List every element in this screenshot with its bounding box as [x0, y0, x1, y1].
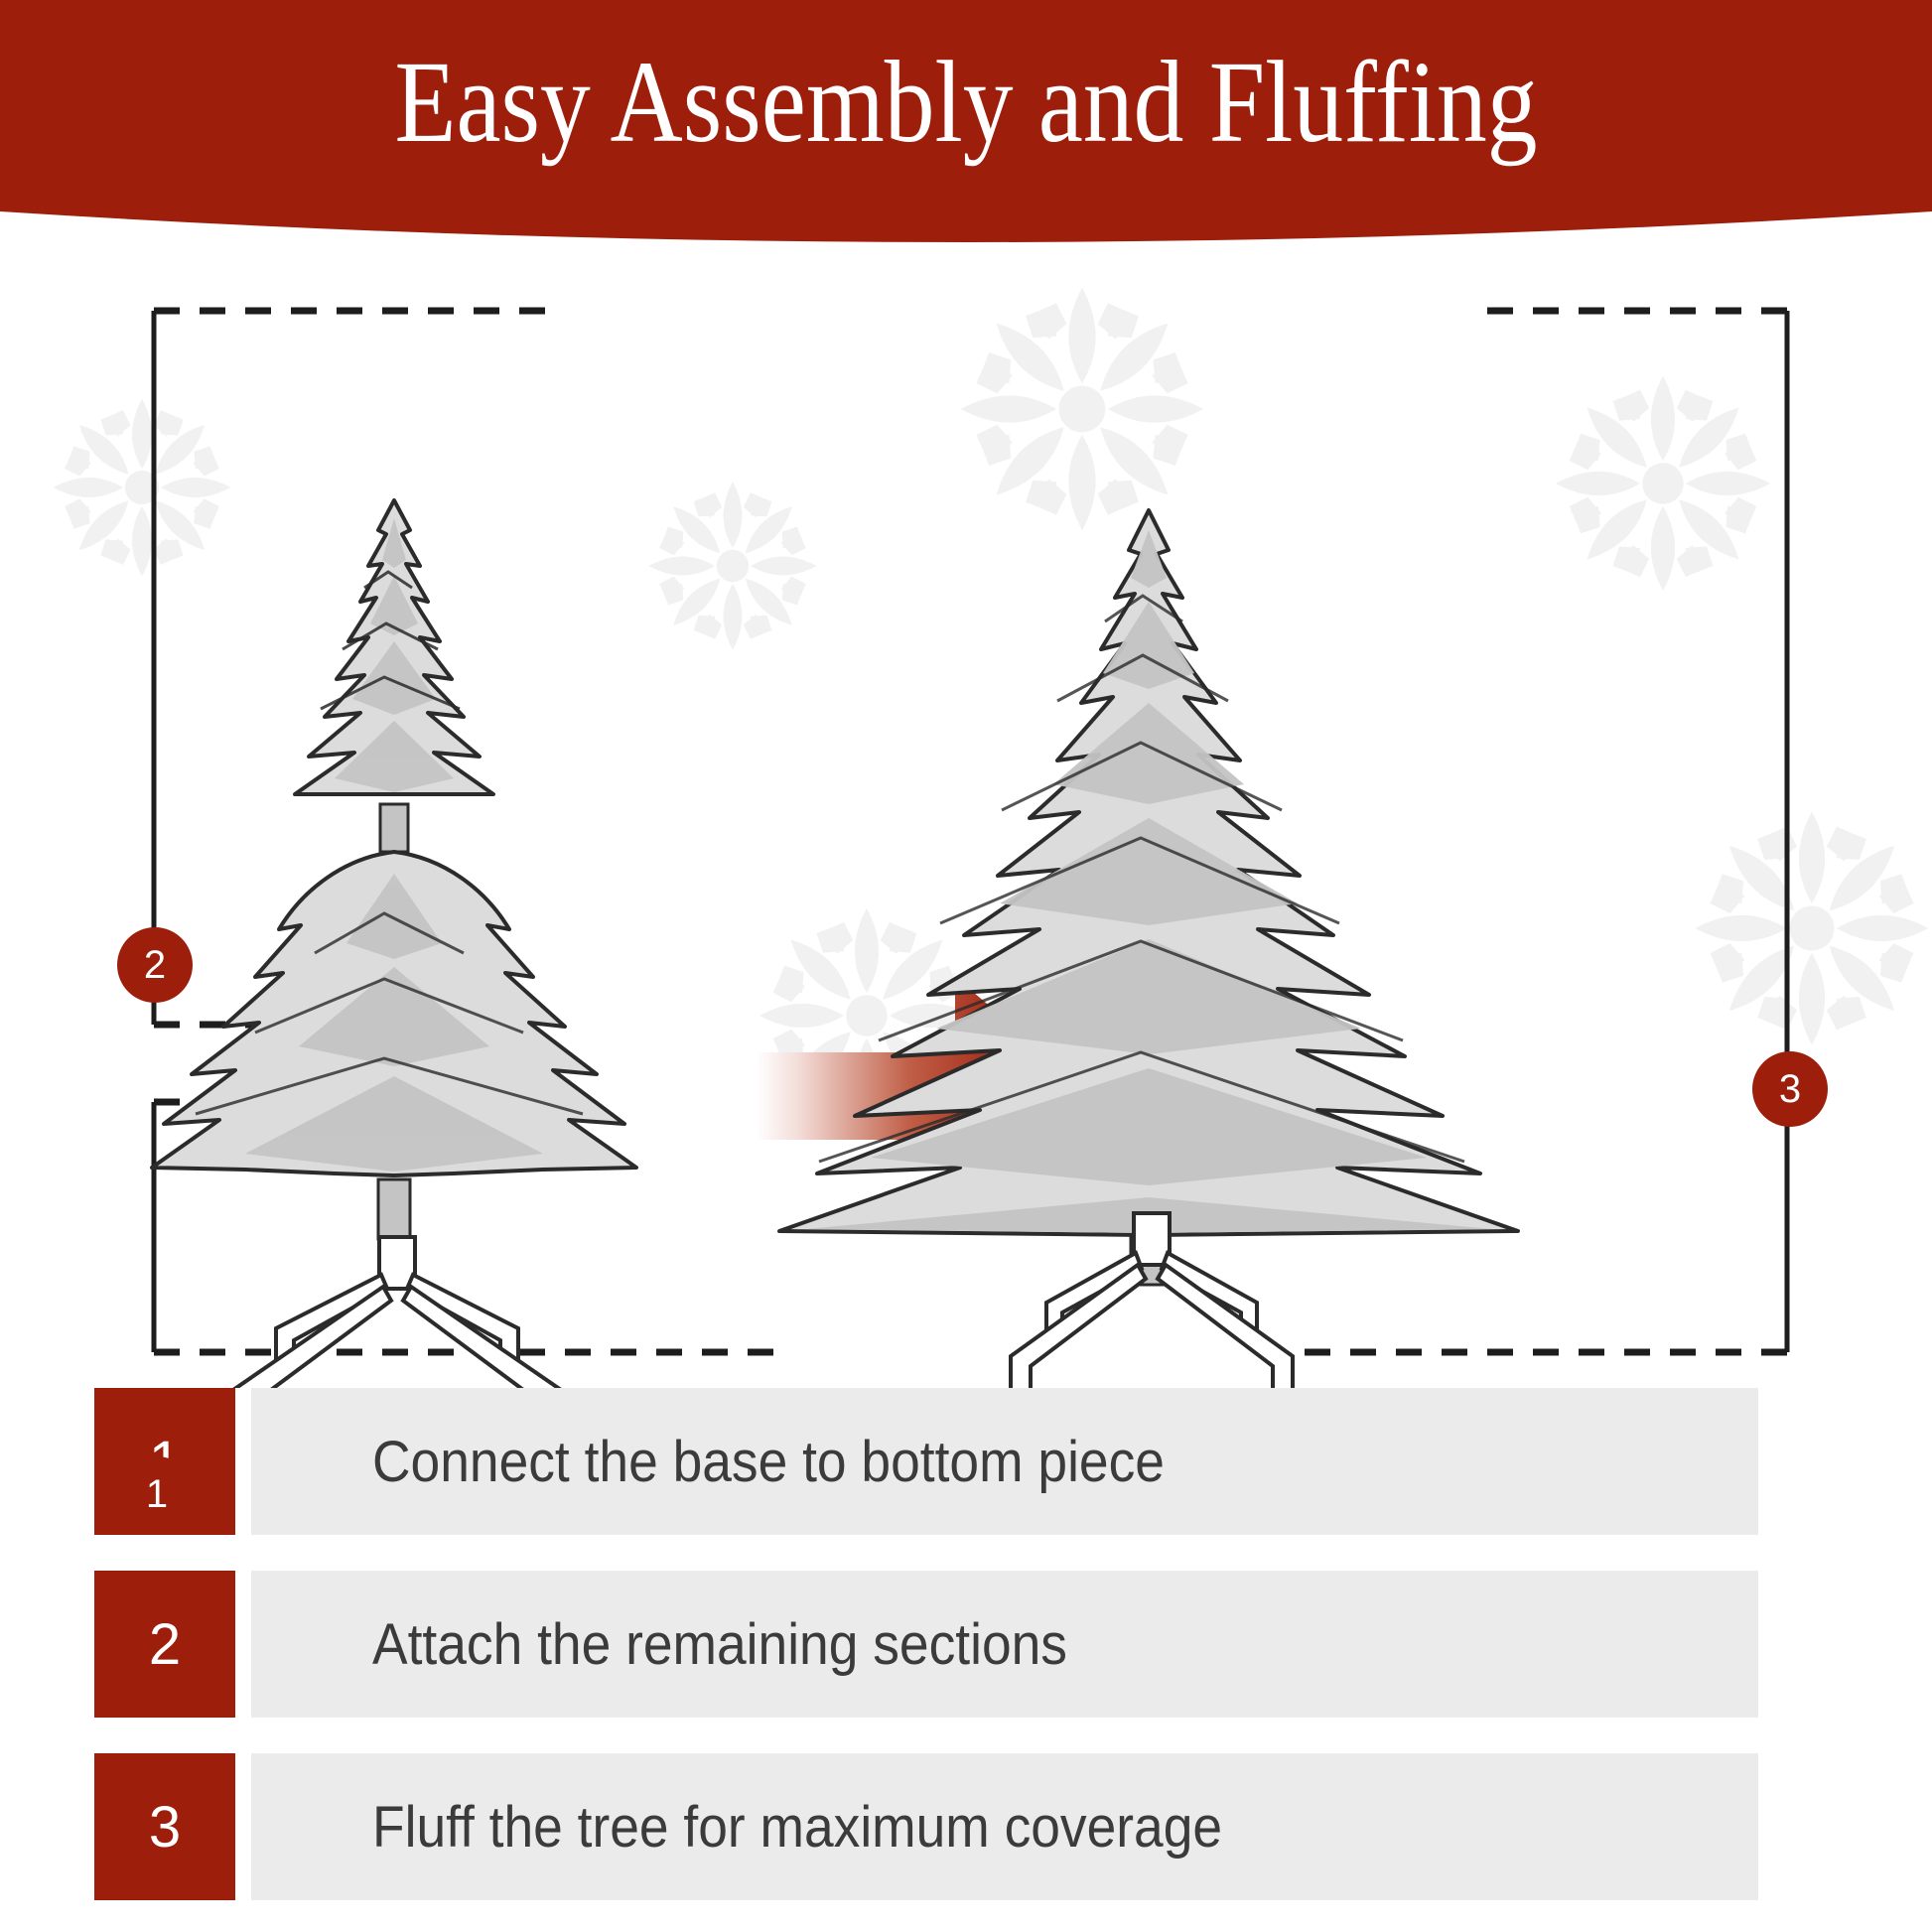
- callout-marker-1[interactable]: 1: [119, 1456, 195, 1532]
- bottom-section-tree: [152, 852, 636, 1239]
- tree-stand-assembled: [1011, 1213, 1293, 1388]
- step-bar-2: Attach the remaining sections: [251, 1571, 1758, 1718]
- infographic-page: Easy Assembly and Fluffing: [0, 0, 1932, 1932]
- top-section-tree: [295, 500, 493, 852]
- step-row-1: 1 Connect the base to bottom piece: [0, 1388, 1932, 1535]
- diagram-canvas: [0, 260, 1932, 1388]
- tree-stand: [230, 1237, 564, 1388]
- step-row-2: 2 Attach the remaining sections: [0, 1571, 1932, 1718]
- step-text-1: Connect the base to bottom piece: [372, 1429, 1165, 1495]
- page-title: Easy Assembly and Fluffing: [135, 44, 1797, 161]
- step-bar-1: Connect the base to bottom piece: [251, 1388, 1758, 1535]
- callout-marker-3[interactable]: 3: [1752, 1051, 1828, 1127]
- callout-marker-2[interactable]: 2: [117, 927, 193, 1003]
- step-row-3: 3 Fluff the tree for maximum coverage: [0, 1753, 1932, 1900]
- steps-list: 1 Connect the base to bottom piece 2 Att…: [0, 1388, 1932, 1932]
- step-text-3: Fluff the tree for maximum coverage: [372, 1794, 1222, 1861]
- step-text-2: Attach the remaining sections: [372, 1611, 1067, 1678]
- step-number-badge-2: 2: [94, 1571, 235, 1718]
- step-number-badge-3: 3: [94, 1753, 235, 1900]
- assembly-diagram: 2 1 3: [0, 260, 1932, 1388]
- step-bar-3: Fluff the tree for maximum coverage: [251, 1753, 1758, 1900]
- assembled-fluffed-tree: [779, 510, 1518, 1285]
- left-brackets: [154, 311, 784, 1352]
